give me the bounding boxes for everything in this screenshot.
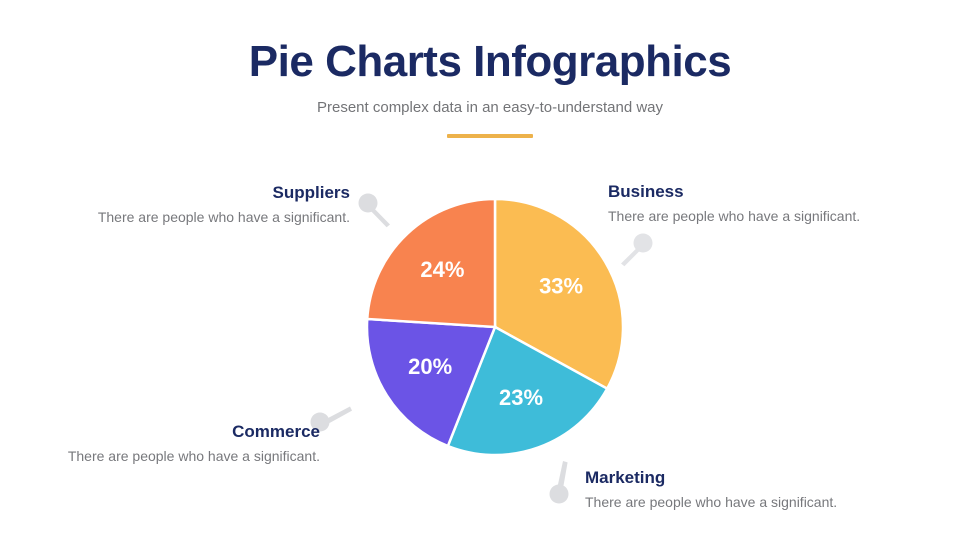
pie-label-marketing: 23%	[499, 385, 543, 410]
header: Pie Charts Infographics Present complex …	[0, 38, 980, 138]
pie-label-suppliers: 24%	[420, 257, 464, 282]
pie-chart-svg: 33% 23% 20% 24%	[365, 197, 625, 457]
callout-desc-suppliers: There are people who have a significant.	[20, 208, 350, 227]
callout-title-business: Business	[608, 182, 938, 202]
pie-chart: 33% 23% 20% 24%	[365, 197, 625, 457]
callout-title-marketing: Marketing	[585, 468, 915, 488]
callout-desc-marketing: There are people who have a significant.	[585, 493, 915, 512]
page-title: Pie Charts Infographics	[0, 38, 980, 86]
callout-desc-commerce: There are people who have a significant.	[10, 447, 320, 466]
accent-divider	[447, 134, 533, 138]
callout-title-suppliers: Suppliers	[20, 183, 350, 203]
pie-label-business: 33%	[539, 274, 583, 299]
callout-commerce[interactable]: Commerce There are people who have a sig…	[10, 422, 320, 466]
slide-canvas: Pie Charts Infographics Present complex …	[0, 0, 980, 551]
pie-label-commerce: 20%	[408, 354, 452, 379]
callout-suppliers[interactable]: Suppliers There are people who have a si…	[20, 183, 350, 227]
pin-icon-marketing	[544, 457, 584, 507]
page-subtitle: Present complex data in an easy-to-under…	[0, 98, 980, 118]
callout-marketing[interactable]: Marketing There are people who have a si…	[585, 468, 915, 512]
callout-business[interactable]: Business There are people who have a sig…	[608, 182, 938, 226]
pie-slices	[367, 199, 623, 455]
callout-title-commerce: Commerce	[10, 422, 320, 442]
callout-desc-business: There are people who have a significant.	[608, 207, 938, 226]
